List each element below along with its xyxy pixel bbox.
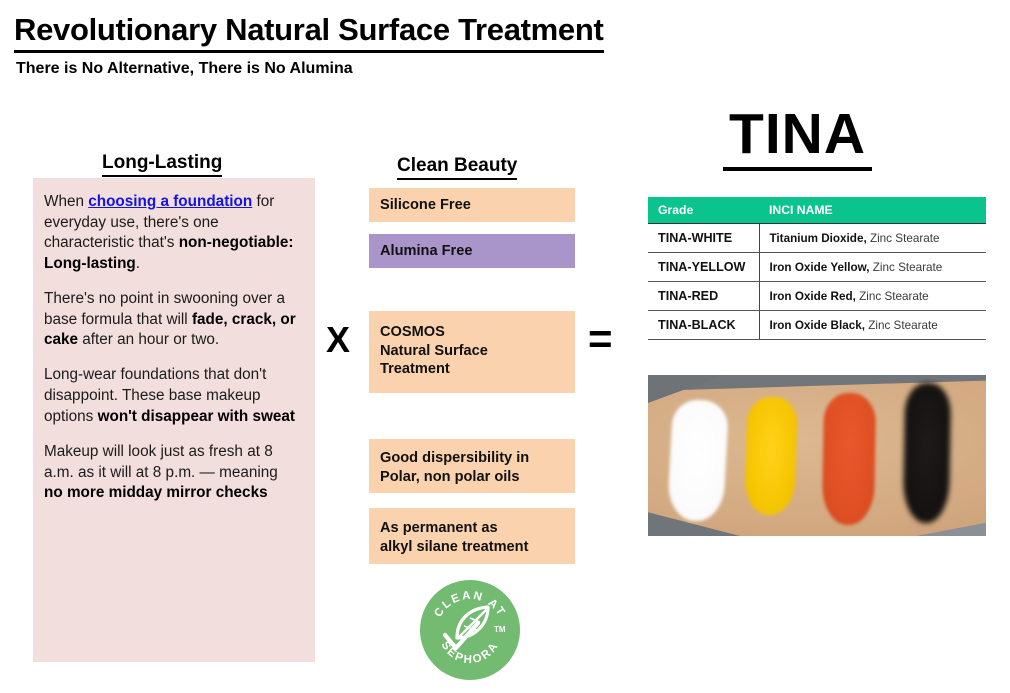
table-row: TINA-BLACK Iron Oxide Black, Zinc Steara…: [648, 311, 986, 340]
permanent-line-1: As permanent as: [380, 519, 564, 538]
inci-secondary: Zinc Stearate: [856, 290, 929, 303]
p1-text-c: .: [136, 255, 140, 272]
cell-grade: TINA-BLACK: [648, 311, 759, 340]
p4-text-a: Makeup will look just as fresh at 8 a.m.…: [44, 443, 278, 481]
svg-text:SEPHORA: SEPHORA: [439, 639, 502, 666]
column-heading-clean-beauty: Clean Beauty: [397, 155, 517, 180]
p4-bold: no more midday mirror checks: [44, 484, 268, 501]
equals-symbol: =: [588, 318, 613, 360]
paragraph-3: Long-wear foundations that don't disappo…: [44, 365, 299, 427]
dispersibility-line-1: Good dispersibility in: [380, 449, 564, 468]
cell-inci: Iron Oxide Black, Zinc Stearate: [759, 311, 986, 340]
inci-secondary: Zinc Stearate: [865, 319, 938, 332]
column-header-grade: Grade: [648, 197, 759, 224]
cell-grade: TINA-YELLOW: [648, 253, 759, 282]
column-header-inci-name: INCI NAME: [759, 197, 986, 224]
table-row: TINA-YELLOW Iron Oxide Yellow, Zinc Stea…: [648, 253, 986, 282]
claim-box-dispersibility: Good dispersibility in Polar, non polar …: [369, 439, 575, 493]
cell-inci: Iron Oxide Red, Zinc Stearate: [759, 282, 986, 311]
cell-inci: Iron Oxide Yellow, Zinc Stearate: [759, 253, 986, 282]
p3-bold: won't disappear with sweat: [98, 408, 295, 425]
claim-box-cosmos: COSMOS Natural Surface Treatment: [369, 311, 575, 393]
slide-canvas: Revolutionary Natural Surface Treatment …: [0, 0, 1010, 693]
page-subtitle: There is No Alternative, There is No Alu…: [16, 60, 353, 78]
multiply-symbol: X: [326, 322, 350, 358]
choosing-a-foundation-link[interactable]: choosing a foundation: [88, 193, 252, 210]
table-header-row: Grade INCI NAME: [648, 197, 986, 224]
swatch-black: [903, 383, 951, 524]
long-lasting-text-panel: When choosing a foundation for everyday …: [33, 178, 315, 662]
column-heading-tina: TINA: [723, 106, 872, 171]
column-heading-long-lasting: Long-Lasting: [102, 152, 222, 177]
svg-text:TM: TM: [494, 625, 506, 634]
swatch-red: [822, 393, 876, 526]
claim-box-silicone-free: Silicone Free: [369, 188, 575, 222]
permanent-line-2: alkyl silane treatment: [380, 538, 564, 557]
table-row: TINA-WHITE Titanium Dioxide, Zinc Steara…: [648, 224, 986, 253]
table-row: TINA-RED Iron Oxide Red, Zinc Stearate: [648, 282, 986, 311]
inci-secondary: Zinc Stearate: [867, 232, 940, 245]
pigment-swatch-photo: [648, 375, 986, 536]
claim-box-permanence: As permanent as alkyl silane treatment: [369, 508, 575, 564]
cell-grade: TINA-WHITE: [648, 224, 759, 253]
page-title: Revolutionary Natural Surface Treatment: [14, 12, 604, 53]
cosmos-line-1: COSMOS: [380, 323, 564, 342]
inci-primary: Iron Oxide Black,: [770, 319, 865, 332]
cell-grade: TINA-RED: [648, 282, 759, 311]
clean-at-sephora-badge: CLEAN AT SEPHORA TM: [420, 580, 520, 680]
inci-secondary: Zinc Stearate: [870, 261, 943, 274]
cell-inci: Titanium Dioxide, Zinc Stearate: [759, 224, 986, 253]
svg-text:CLEAN AT: CLEAN AT: [432, 590, 507, 620]
paragraph-2: There's no point in swooning over a base…: [44, 289, 299, 351]
cosmos-line-3: Treatment: [380, 360, 564, 379]
p2-text-b: after an hour or two.: [78, 331, 219, 348]
p1-text-a: When: [44, 193, 88, 210]
paragraph-4: Makeup will look just as fresh at 8 a.m.…: [44, 442, 299, 504]
paragraph-1: When choosing a foundation for everyday …: [44, 192, 299, 275]
claim-box-alumina-free: Alumina Free: [369, 234, 575, 268]
inci-primary: Iron Oxide Red,: [770, 290, 856, 303]
clean-at-sephora-seal-icon: CLEAN AT SEPHORA TM: [420, 580, 520, 680]
swatch-white: [667, 399, 729, 523]
cosmos-line-2: Natural Surface: [380, 342, 564, 361]
inci-primary: Titanium Dioxide,: [770, 232, 867, 245]
tina-grades-table: Grade INCI NAME TINA-WHITE Titanium Diox…: [648, 197, 986, 340]
dispersibility-line-2: Polar, non polar oils: [380, 468, 564, 487]
swatch-yellow: [744, 396, 798, 516]
inci-primary: Iron Oxide Yellow,: [770, 261, 870, 274]
